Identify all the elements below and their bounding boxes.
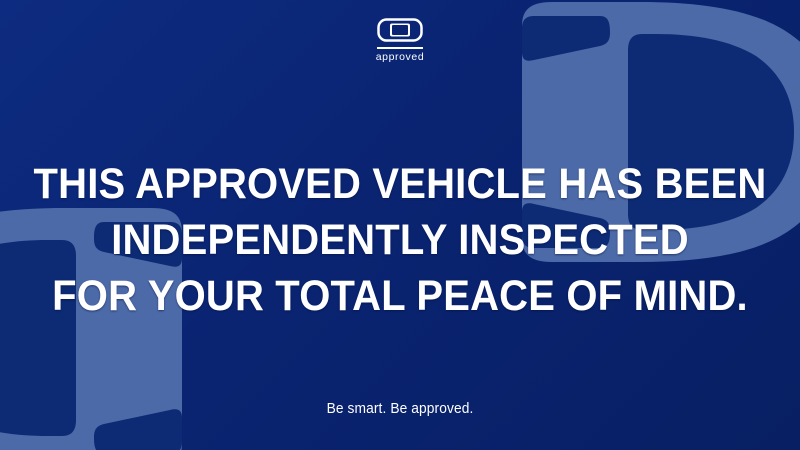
page-title: THIS APPROVED VEHICLE HAS BEEN INDEPENDE… [28,156,772,324]
headline-line-3: FOR YOUR TOTAL PEACE OF MIND. [28,268,772,324]
brand-divider [377,47,423,49]
banner-canvas: approved THIS APPROVED VEHICLE HAS BEEN … [0,0,800,450]
headline-line-2: INDEPENDENTLY INSPECTED [28,212,772,268]
headline-line-1: THIS APPROVED VEHICLE HAS BEEN [28,156,772,212]
car-top-view-icon [377,18,423,42]
brand-word: approved [376,52,425,63]
tagline: Be smart. Be approved. [20,401,780,417]
brand-lockup: approved [0,18,800,62]
